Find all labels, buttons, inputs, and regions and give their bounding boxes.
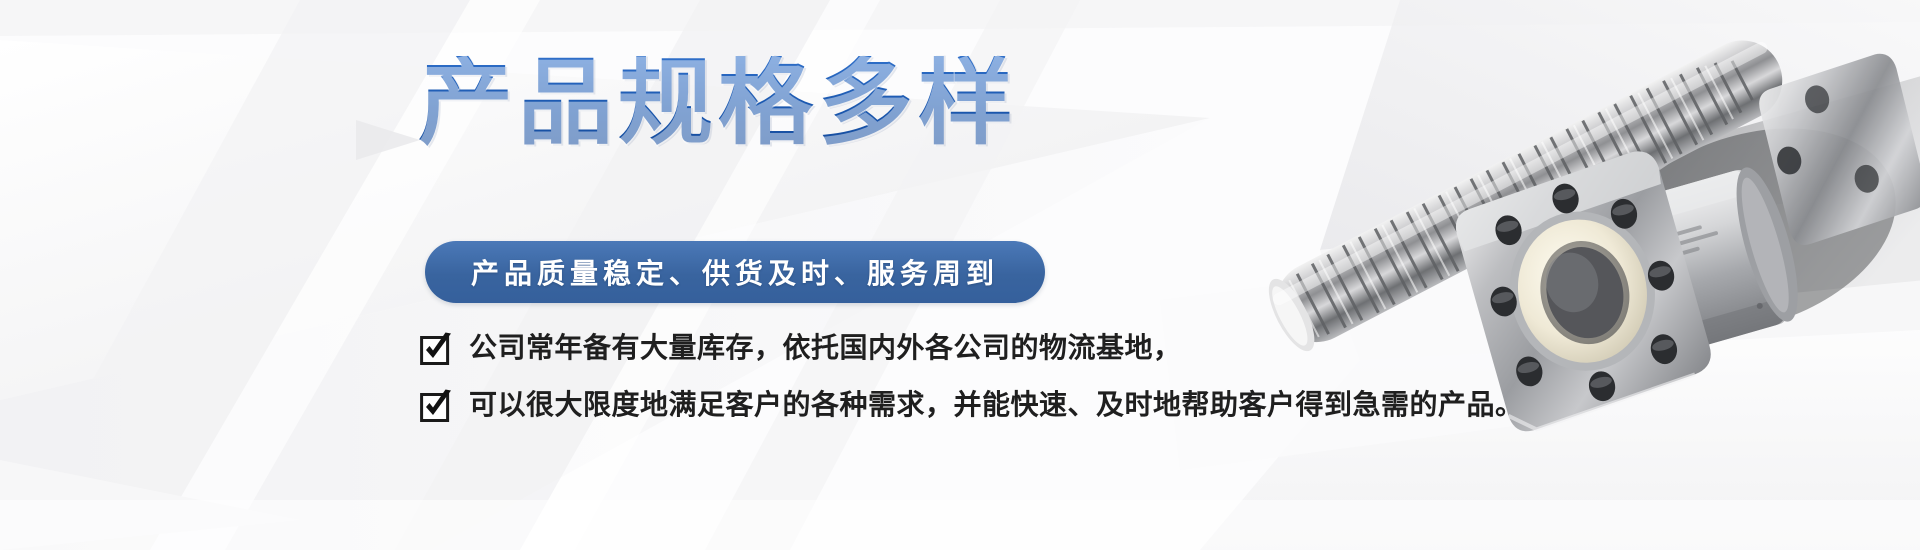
- tagline-text: 产品质量稳定、供货及时、服务周到: [471, 252, 999, 292]
- banner-content: 产品规格多样 产品规格多样 产品质量稳定、供货及时、服务周到 公司常年备有大量库…: [0, 0, 1500, 550]
- banner-headline: 产品规格多样: [418, 56, 1018, 151]
- list-item: 可以很大限度地满足客户的各种需求，并能快速、及时地帮助客户得到急需的产品。: [420, 389, 1524, 422]
- list-item-text: 公司常年备有大量库存，依托国内外各公司的物流基地，: [469, 333, 1182, 364]
- checkbox-checked-icon: [420, 389, 453, 422]
- product-spec-banner: 产品规格多样 产品规格多样 产品质量稳定、供货及时、服务周到 公司常年备有大量库…: [0, 0, 1920, 550]
- tagline-pill: 产品质量稳定、供货及时、服务周到: [425, 241, 1045, 303]
- list-item-text: 可以很大限度地满足客户的各种需求，并能快速、及时地帮助客户得到急需的产品。: [469, 390, 1524, 421]
- feature-bullet-list: 公司常年备有大量库存，依托国内外各公司的物流基地， 可以很大限度地满足客户的各种…: [420, 332, 1524, 422]
- checkbox-checked-icon: [420, 332, 453, 365]
- list-item: 公司常年备有大量库存，依托国内外各公司的物流基地，: [420, 332, 1524, 365]
